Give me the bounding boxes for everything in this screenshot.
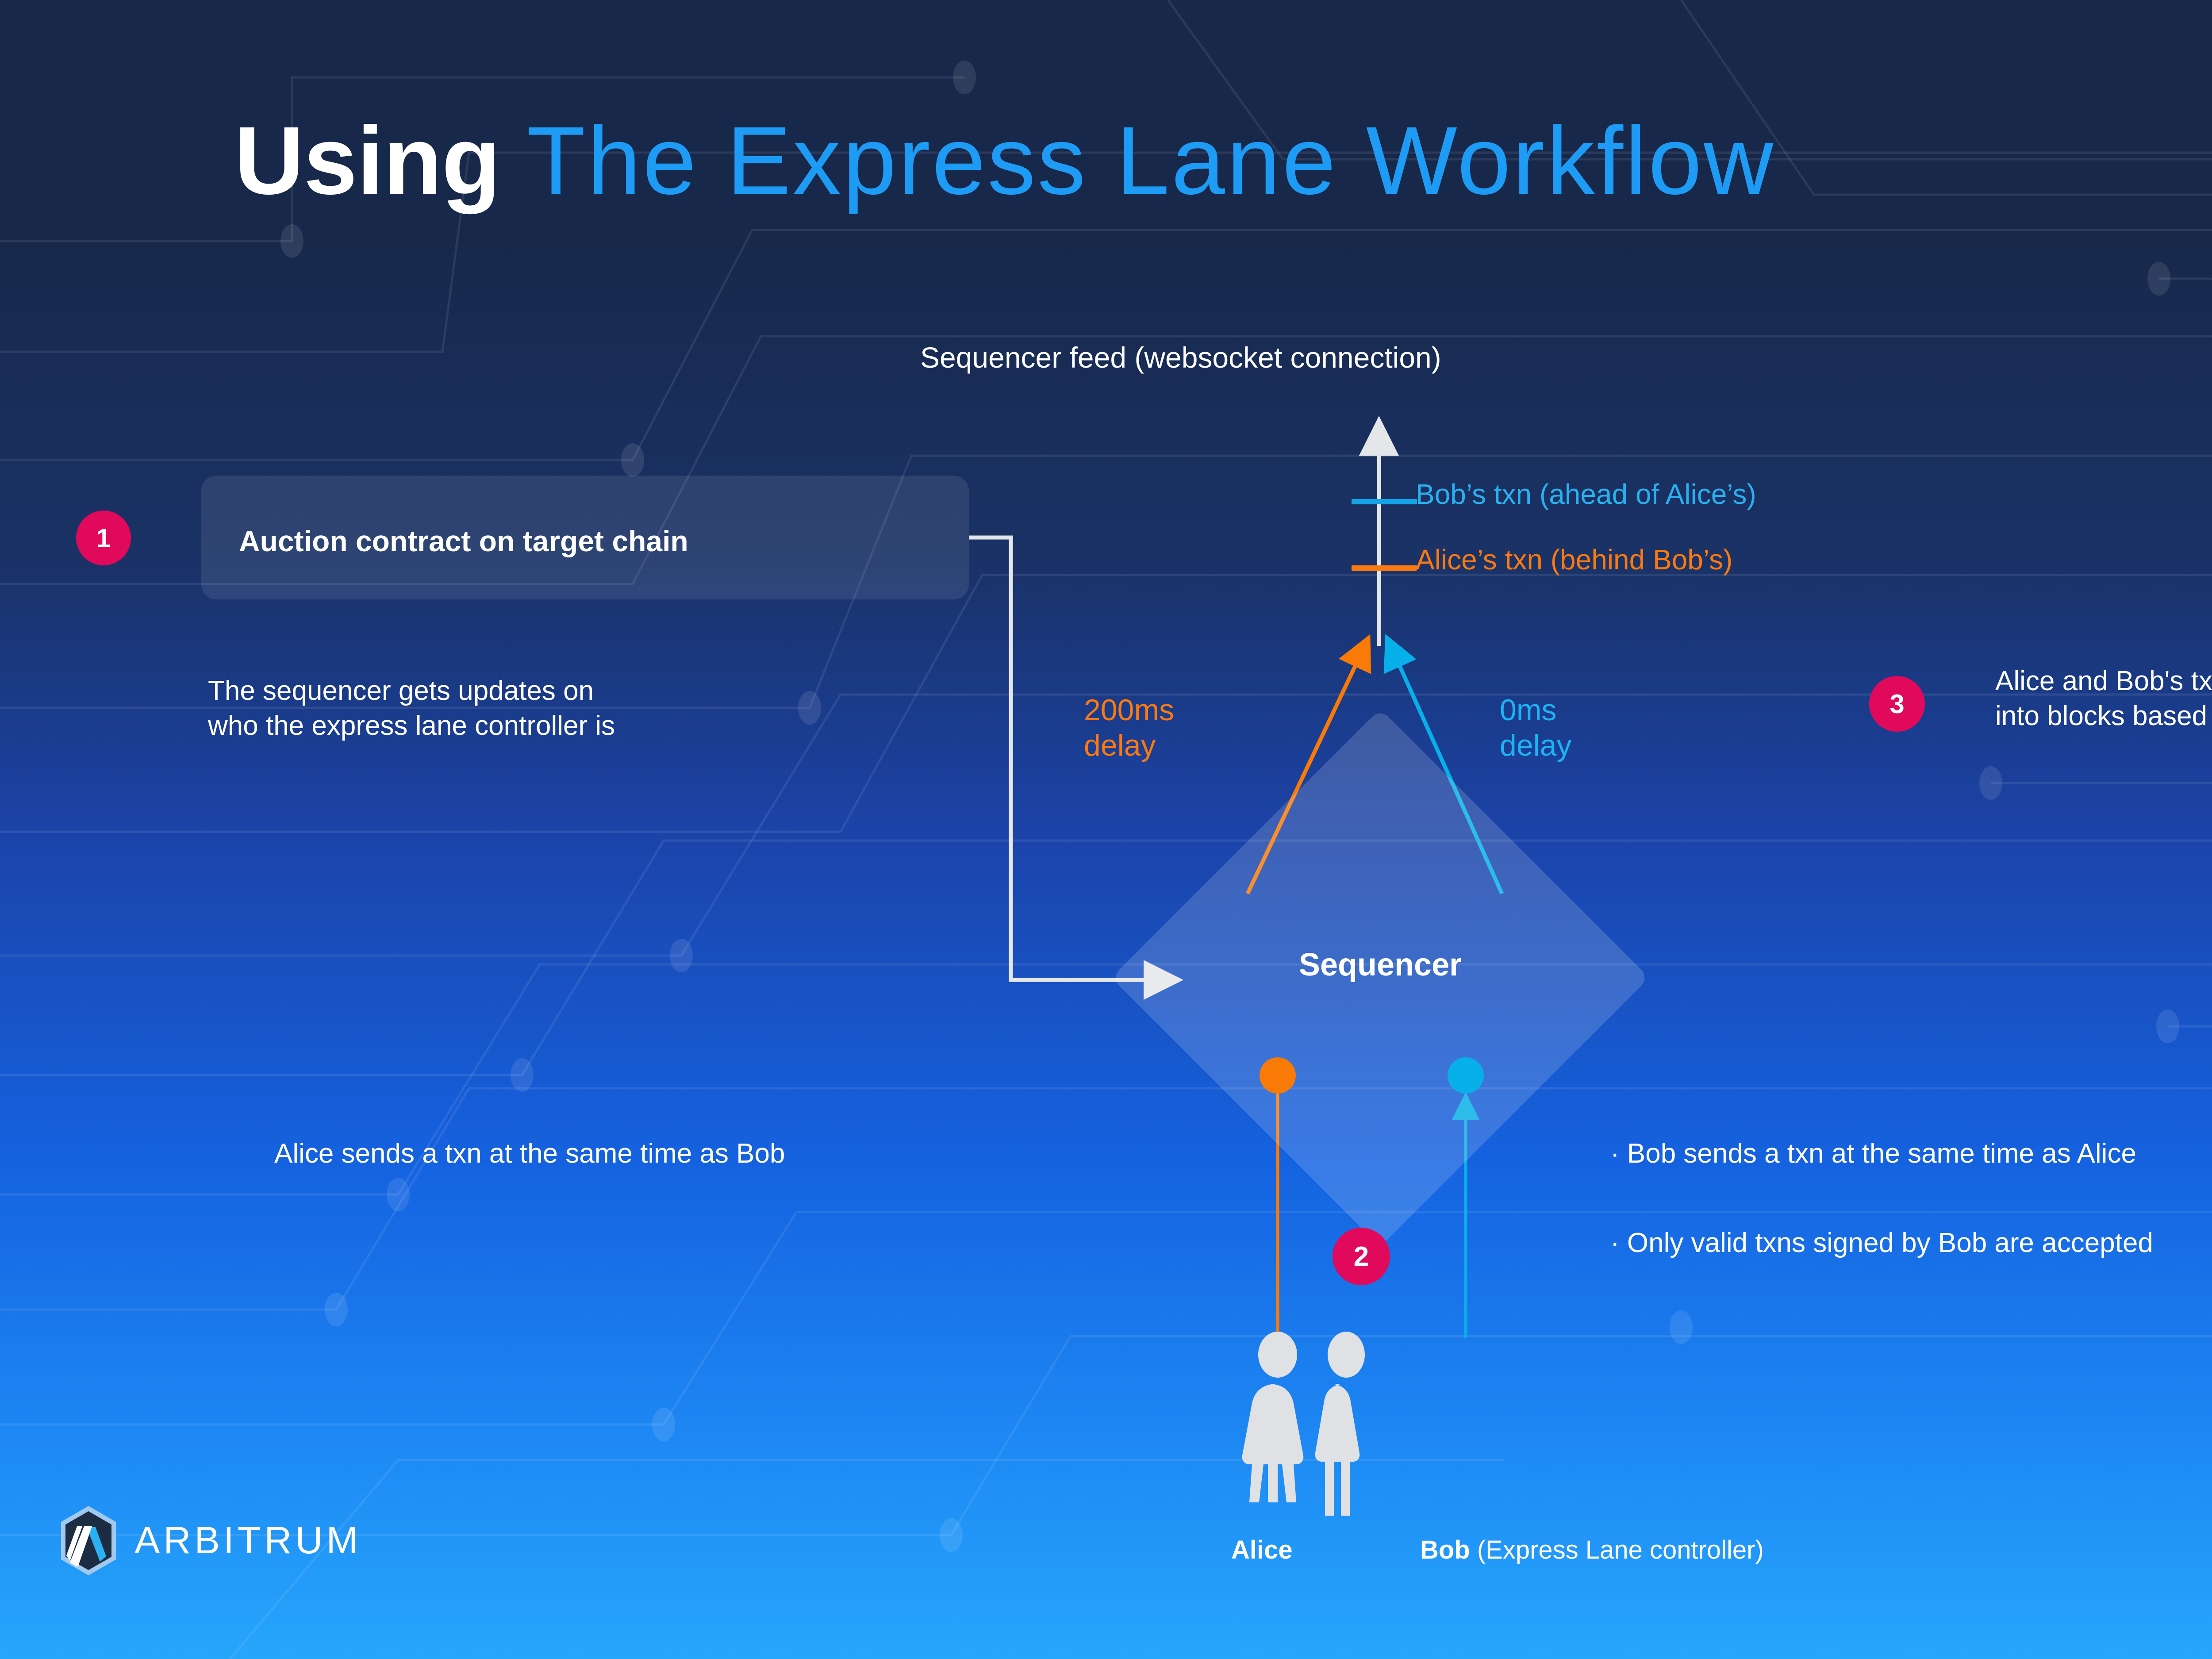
bob-name-suffix: (Express Lane controller) — [1470, 1536, 1764, 1564]
bob-sends-note: · Bob sends a txn at the same time as Al… — [1610, 1136, 2136, 1171]
sequencer-feed-label: Sequencer feed (websocket connection) — [920, 341, 1441, 374]
step-badge-1: 1 — [76, 511, 131, 565]
alice-legend-swatch — [1352, 565, 1417, 571]
bob-name-label: Bob (Express Lane controller) — [1420, 1535, 1764, 1565]
auction-contract-label: Auction contract on target chain — [239, 524, 688, 558]
people-icons — [1221, 1332, 1469, 1526]
arbitrum-mark-icon — [58, 1504, 119, 1577]
alice-sends-note: Alice sends a txn at the same time as Bo… — [274, 1136, 785, 1171]
step-badge-2: 2 — [1333, 1228, 1390, 1285]
flow-arrows — [0, 0, 2212, 1659]
alice-legend-label: Alice’s txn (behind Bob’s) — [1416, 543, 1732, 576]
page-title: Using The Express Lane Workflow — [234, 113, 1775, 209]
arbitrum-wordmark: ARBITRUM — [134, 1519, 361, 1563]
bob-icon — [1315, 1332, 1365, 1516]
page-title-bold-word: Using — [234, 107, 500, 215]
bob-valid-txns-note: · Only valid txns signed by Bob are acce… — [1610, 1225, 2153, 1260]
alice-icon — [1242, 1332, 1304, 1502]
step-3-body-text: Alice and Bob's txns get ordered into bl… — [1995, 664, 2212, 734]
alice-name-label: Alice — [1231, 1535, 1293, 1565]
bob-legend-label: Bob’s txn (ahead of Alice’s) — [1416, 478, 1756, 511]
infographic-canvas: Using The Express Lane Workflow Sequence… — [0, 0, 2212, 1659]
bob-legend-swatch — [1352, 499, 1417, 504]
bob-delay-label: 0ms delay — [1500, 692, 1572, 763]
circuit-background-pattern — [0, 0, 2212, 1659]
alice-txn-dot — [1260, 1057, 1296, 1094]
step-badge-3: 3 — [1869, 676, 1925, 732]
bob-txn-dot — [1448, 1057, 1484, 1094]
page-title-light-word: The Express Lane Workflow — [526, 107, 1775, 215]
bob-name-bold: Bob — [1420, 1536, 1470, 1564]
arbitrum-logo: ARBITRUM — [58, 1504, 361, 1577]
sequencer-label: Sequencer — [1256, 947, 1504, 983]
step-1-body-text: The sequencer gets updates on who the ex… — [208, 673, 615, 744]
alice-delay-label: 200ms delay — [1084, 692, 1174, 763]
